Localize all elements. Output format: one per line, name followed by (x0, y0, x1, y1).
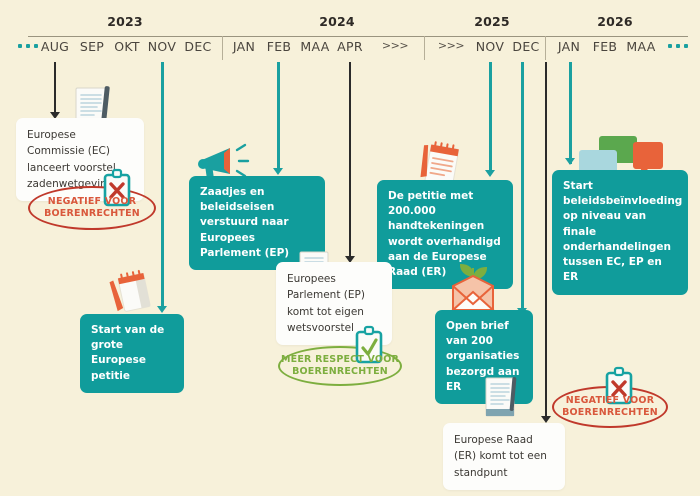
verdict-label-negative-1: NEGATIEF VOOR BOERENRECHTEN (44, 196, 140, 221)
connector-feb-2024 (277, 62, 280, 172)
connector-nov-2023-arrow (157, 306, 167, 313)
verdict-line1: NEGATIEF VOOR (48, 196, 136, 207)
connector-dec-2025-teal (521, 62, 524, 312)
month-maa-2024: MAA (298, 39, 332, 54)
year-label-2025: 2025 (437, 14, 547, 29)
verdict-line2: BOERENRECHTEN (44, 208, 140, 219)
callout-er-position-text: Europese Raad (ER) komt tot een standpun… (454, 432, 554, 481)
year-label-2024: 2024 (238, 14, 436, 29)
connector-jan-2026 (569, 62, 572, 164)
year-label-row: 2023 2024 2025 2026 (0, 14, 700, 34)
month-nov-2023: NOV (145, 39, 179, 54)
connector-feb-2024-arrow (273, 168, 283, 175)
month-jan-2026: JAN (552, 39, 586, 54)
verdict-badge-negative-1: NEGATIEF VOOR BOERENRECHTEN (28, 186, 156, 230)
month-feb-2026: FEB (588, 39, 622, 54)
month-gap-2025: >>> (434, 39, 468, 52)
month-sep-2023: SEP (75, 39, 109, 54)
month-label-row: AUG SEP OKT NOV DEC JAN FEB MAA APR >>> … (0, 39, 700, 61)
document-icon (482, 376, 522, 424)
month-dec-2023: DEC (181, 39, 215, 54)
year-label-2026: 2026 (560, 14, 670, 29)
callout-petition-start-text: Start van de grote Europese petitie (91, 323, 173, 384)
month-apr-2024: APR (333, 39, 367, 54)
connector-dec-2025-dark-arrow (541, 416, 551, 423)
connector-nov-2023 (161, 62, 164, 310)
connector-nov-2025-arrow (485, 170, 495, 177)
verdict-line1: MEER RESPECT VOOR (281, 354, 399, 365)
verdict-line2: BOERENRECHTEN (292, 366, 388, 377)
callout-policy-influence: Start beleidsbeïnvloeding op niveau van … (552, 170, 688, 295)
notepad-icon (105, 266, 157, 318)
callout-petition-start: Start van de grote Europese petitie (80, 314, 184, 393)
month-gap-2024: >>> (378, 39, 412, 52)
month-maa-2026: MAA (624, 39, 658, 54)
verdict-line1: NEGATIEF VOOR (566, 395, 654, 406)
callout-policy-influence-text: Start beleidsbeïnvloeding op niveau van … (563, 179, 677, 286)
month-nov-2025: NOV (473, 39, 507, 54)
verdict-label-negative-2: NEGATIEF VOOR BOERENRECHTEN (562, 395, 658, 420)
callout-er-position: Europese Raad (ER) komt tot een standpun… (443, 423, 565, 490)
connector-dec-2025-dark (545, 62, 547, 420)
month-feb-2024: FEB (262, 39, 296, 54)
month-aug-2023: AUG (38, 39, 72, 54)
connector-apr-2024 (349, 62, 351, 260)
month-jan-2024: JAN (227, 39, 261, 54)
connector-nov-2025 (489, 62, 492, 174)
verdict-label-positive: MEER RESPECT VOOR BOERENRECHTEN (281, 354, 399, 379)
year-label-2023: 2023 (60, 14, 190, 29)
month-okt-2023: OKT (110, 39, 144, 54)
timeline-infographic: 2023 2024 2025 2026 AUG SEP OKT NOV DEC … (0, 0, 700, 496)
connector-jan-2026-arrow (565, 158, 575, 165)
month-dec-2025: DEC (509, 39, 543, 54)
timeline-axis (28, 36, 688, 37)
verdict-line2: BOERENRECHTEN (562, 407, 658, 418)
connector-aug-2023 (54, 62, 56, 114)
